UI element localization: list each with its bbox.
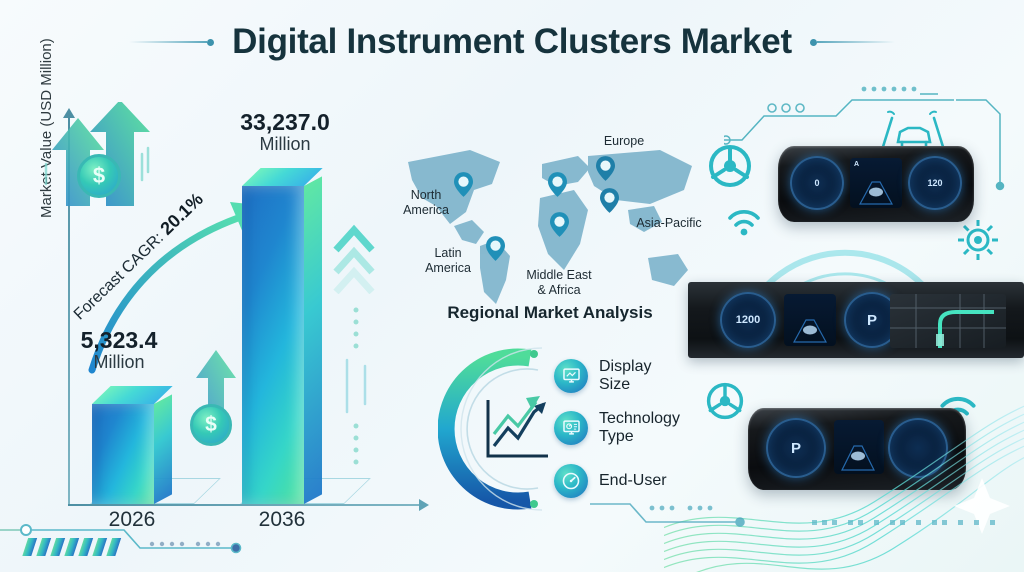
dot-deco-icon xyxy=(344,306,368,476)
bar-2036 xyxy=(242,168,322,504)
dash-gauge-rpm: 1200 xyxy=(720,292,776,348)
x-axis-line xyxy=(68,504,420,506)
bar-value-2026: 5,323.4 Million xyxy=(34,328,204,372)
region-label-latin-america: Latin America xyxy=(410,246,486,276)
map-pin-asia-pacific xyxy=(600,188,619,213)
bar-unit-2036: Million xyxy=(200,135,370,154)
bar-value-2036: 33,237.0 Million xyxy=(200,110,370,154)
gauge-icon xyxy=(554,464,588,498)
bar-2026 xyxy=(92,386,172,504)
cluster-gauge-right: 120 xyxy=(908,156,962,210)
region-label-europe: Europe xyxy=(586,134,662,149)
map-caption: Regional Market Analysis xyxy=(400,303,700,323)
dashboard-photo-middle: 1200 P xyxy=(688,282,1024,358)
dollar-coin-icon-mid: $ xyxy=(190,404,232,446)
segment-item-display-size[interactable]: Display Size xyxy=(554,358,651,394)
map-pin-asia-north xyxy=(548,172,567,197)
regional-map: North America Latin America Europe Middl… xyxy=(392,128,712,328)
circuit-deco-bottom-left xyxy=(0,520,420,566)
title-right-deco xyxy=(810,39,895,46)
segment-label-end-user: End-User xyxy=(599,472,667,490)
circuit-deco-bottom-center xyxy=(590,498,820,544)
map-pin-latin-america xyxy=(486,236,505,261)
page-title: Digital Instrument Clusters Market xyxy=(232,22,792,62)
segment-label-display-size: Display Size xyxy=(599,358,651,394)
infographic-canvas: Digital Instrument Clusters Market Marke… xyxy=(0,0,1024,572)
market-value-bar-chart: Market Value (USD Million) $ xyxy=(22,96,422,526)
region-label-north-america: North America xyxy=(388,188,464,218)
bar-unit-2026: Million xyxy=(34,353,204,372)
instrument-cluster-photo-top: 0 A 120 xyxy=(778,146,974,222)
map-pin-middle-east-africa xyxy=(550,212,569,237)
title-left-deco xyxy=(129,39,214,46)
cluster-center-display: A xyxy=(850,158,902,208)
monitor-icon xyxy=(554,359,588,393)
dashboard-monitor-icon xyxy=(554,411,588,445)
region-label-middle-east-africa: Middle East & Africa xyxy=(514,268,604,298)
segment-item-end-user[interactable]: End-User xyxy=(554,464,667,498)
dot-matrix-deco xyxy=(812,514,1002,532)
segment-item-technology-type[interactable]: Technology Type xyxy=(554,410,680,446)
dash-center-display xyxy=(784,294,836,346)
map-pin-europe xyxy=(596,156,615,181)
cluster-gauge-left: 0 xyxy=(790,156,844,210)
chevron-deco-icon xyxy=(332,224,376,294)
header: Digital Instrument Clusters Market xyxy=(0,22,1024,62)
dash-navigation-map xyxy=(890,294,1006,348)
